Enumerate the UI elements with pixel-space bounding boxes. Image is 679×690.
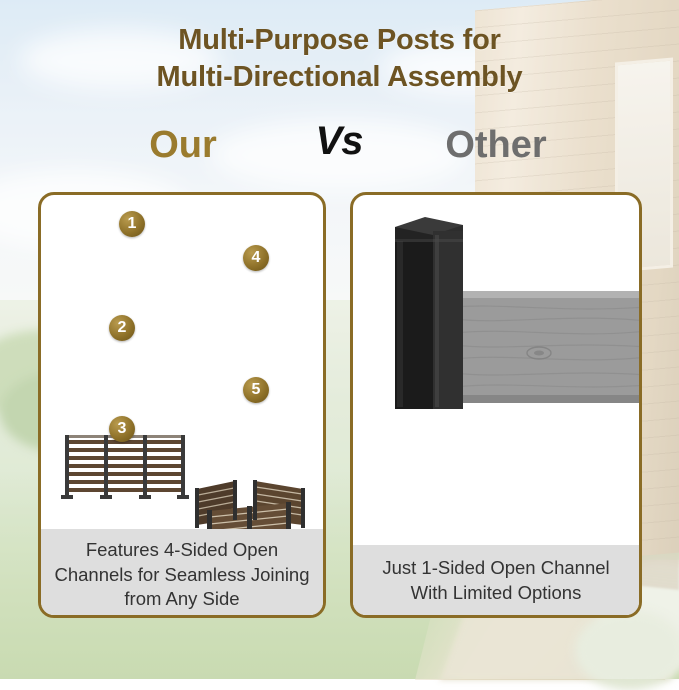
other-label: Other (350, 124, 642, 167)
other-product-panel: Just 1-Sided Open Channel With Limited O… (350, 192, 642, 618)
page-title-line1: Multi-Purpose Posts for (0, 22, 679, 59)
our-product-caption: Features 4-Sided Open Channels for Seaml… (41, 529, 323, 615)
our-product-panel: 1 2 3 4 5 Features 4-Sided Open Channels… (38, 192, 326, 618)
gray-board (453, 291, 642, 403)
config-badge-4: 4 (243, 245, 269, 271)
other-caption-line1: Just 1-Sided Open Channel (359, 556, 633, 581)
config-badge-3: 3 (109, 416, 135, 442)
straight-flat-fence-panel (59, 431, 191, 503)
black-post-with-board (353, 195, 642, 551)
comparison-header: Our Vs Other (0, 124, 679, 180)
config-badge-5: 5 (243, 377, 269, 403)
other-caption-line2: With Limited Options (359, 581, 633, 606)
other-product-caption: Just 1-Sided Open Channel With Limited O… (353, 545, 639, 615)
config-badge-1: 1 (119, 211, 145, 237)
config-badge-2: 2 (109, 315, 135, 341)
our-label: Our (38, 124, 328, 167)
page-title: Multi-Purpose Posts for Multi-Directiona… (0, 22, 679, 96)
page-title-line2: Multi-Directional Assembly (0, 59, 679, 96)
black-post (395, 217, 463, 409)
